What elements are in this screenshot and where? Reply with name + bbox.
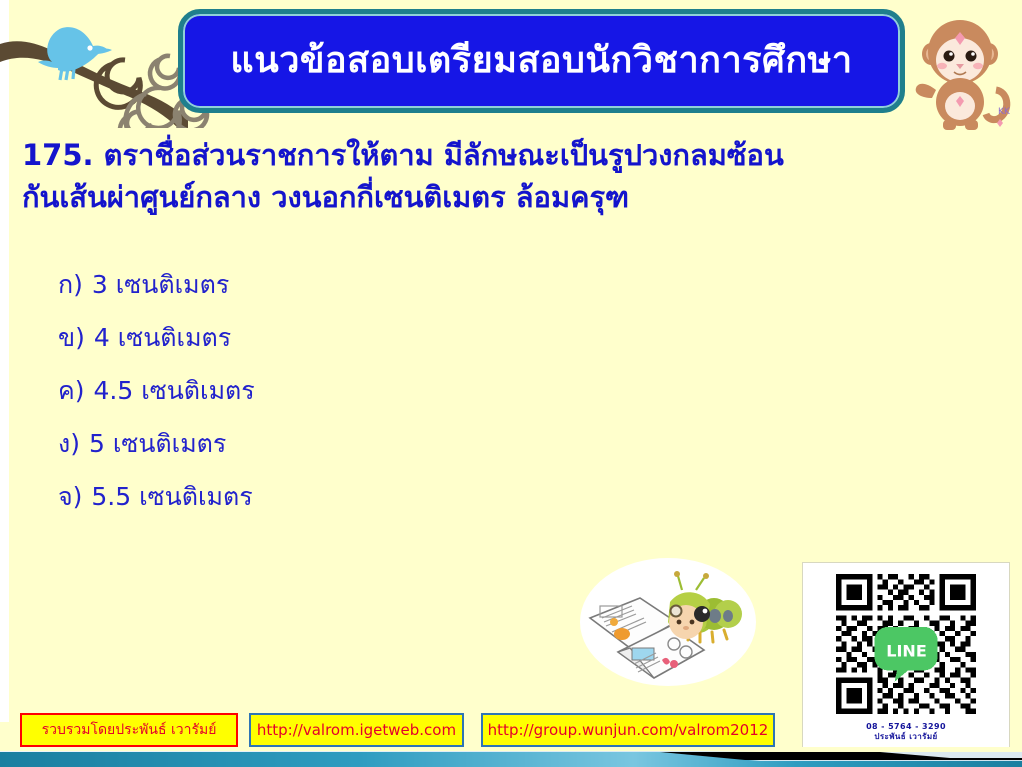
bottom-decorative-band: [0, 747, 1022, 767]
credit-box: รวบรวมโดยประพันธ์ เวารัมย์: [20, 713, 238, 747]
choice-key: ง): [58, 431, 80, 456]
website-link-2[interactable]: http://group.wunjun.com/valrom2012: [481, 713, 775, 747]
choice-label: 5 เซนติเมตร: [89, 431, 226, 456]
question-line-2: กันเส้นผ่าศูนย์กลาง วงนอกกี่เซนติเมตร ล้…: [22, 176, 1002, 218]
slide-canvas: แนวข้อสอบเตรียมสอบนักวิชาการศึกษา KK: [0, 0, 1022, 767]
monkey-mascot-icon: KK: [910, 4, 1014, 130]
page-title: แนวข้อสอบเตรียมสอบนักวิชาการศึกษา: [230, 43, 852, 79]
choice-key: ก): [58, 272, 83, 297]
choice-option-kho2[interactable]: ค) 4.5 เซนติเมตร: [58, 364, 758, 417]
choice-label: 4 เซนติเมตร: [94, 325, 231, 350]
choice-label: 3 เซนติเมตร: [92, 272, 229, 297]
credit-label: รวบรวมโดยประพันธ์ เวารัมย์: [42, 719, 217, 741]
svg-text:LINE: LINE: [886, 641, 927, 660]
question-text: 175. ตราชื่อส่วนราชการให้ตาม มีลักษณะเป็…: [22, 134, 1002, 218]
question-line-1: 175. ตราชื่อส่วนราชการให้ตาม มีลักษณะเป็…: [22, 134, 1002, 176]
choice-option-ka[interactable]: ก) 3 เซนติเมตร: [58, 258, 758, 311]
website-link-1-label: http://valrom.igetweb.com: [257, 721, 456, 739]
qr-code-icon[interactable]: LINE: [831, 569, 981, 719]
choice-label: 5.5 เซนติเมตร: [91, 484, 252, 509]
choice-key: ค): [58, 378, 84, 403]
caterpillar-reading-book-icon: [578, 556, 758, 688]
title-banner: แนวข้อสอบเตรียมสอบนักวิชาการศึกษา: [178, 9, 905, 113]
choice-key: ข): [58, 325, 85, 350]
website-link-1[interactable]: http://valrom.igetweb.com: [249, 713, 464, 747]
choice-key: จ): [58, 484, 82, 509]
choice-label: 4.5 เซนติเมตร: [93, 378, 254, 403]
svg-text:KK: KK: [998, 107, 1011, 117]
answer-choices: ก) 3 เซนติเมตร ข) 4 เซนติเมตร ค) 4.5 เซน…: [58, 258, 758, 523]
choice-option-ngo[interactable]: ง) 5 เซนติเมตร: [58, 417, 758, 470]
choice-option-kho[interactable]: ข) 4 เซนติเมตร: [58, 311, 758, 364]
choice-option-cho[interactable]: จ) 5.5 เซนติเมตร: [58, 470, 758, 523]
bird-icon: [38, 27, 112, 80]
footer-links: รวบรวมโดยประพันธ์ เวารัมย์ http://valrom…: [0, 713, 1022, 751]
header-band: แนวข้อสอบเตรียมสอบนักวิชาการศึกษา KK: [0, 0, 1022, 128]
website-link-2-label: http://group.wunjun.com/valrom2012: [488, 721, 769, 739]
